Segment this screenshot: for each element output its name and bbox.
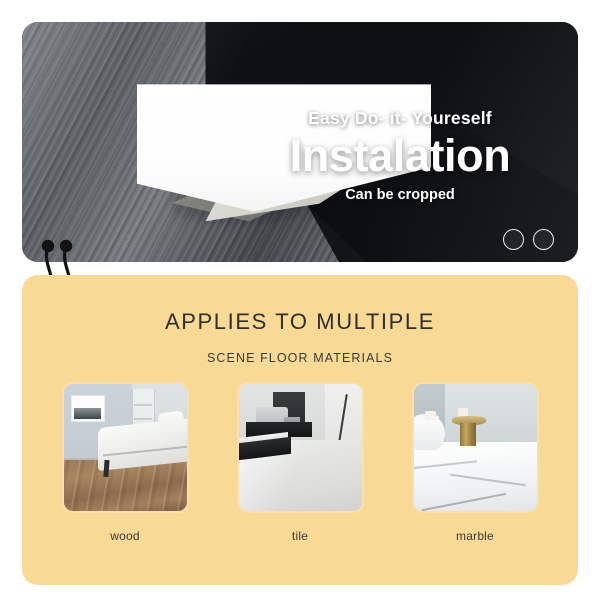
hero-subtitle: Can be cropped	[240, 187, 560, 203]
circle-indicator-2-icon	[533, 229, 554, 250]
material-label-marble: marble	[414, 529, 537, 543]
material-item-tile[interactable]: tile	[239, 384, 362, 543]
wood-shelf-2	[134, 418, 152, 420]
circle-indicator-1-icon	[503, 229, 524, 250]
marble-cup	[425, 411, 436, 420]
hero-indicator-group	[503, 229, 554, 250]
panel-heading: APPLIES TO MULTIPLE	[22, 309, 578, 335]
wood-window	[71, 395, 105, 421]
material-label-tile: tile	[239, 529, 362, 543]
wood-window-view	[74, 408, 101, 420]
materials-panel: APPLIES TO MULTIPLE SCENE FLOOR MATERIAL…	[22, 275, 578, 585]
hero-banner: Easy Do- it- Youreself Instalation Can b…	[22, 22, 578, 262]
marble-table-leg	[460, 423, 476, 446]
marble-bathtub	[414, 417, 446, 450]
hero-title: Instalation	[240, 133, 560, 179]
material-thumbnail-row: wood tile	[22, 384, 578, 543]
hero-kicker: Easy Do- it- Youreself	[240, 108, 560, 129]
product-listing-image: Easy Do- it- Youreself Instalation Can b…	[0, 0, 600, 600]
material-thumbnail-marble[interactable]	[414, 384, 537, 511]
panel-subheading: SCENE FLOOR MATERIALS	[22, 351, 578, 365]
material-thumbnail-tile[interactable]	[239, 384, 362, 511]
material-thumbnail-wood[interactable]	[64, 384, 187, 511]
hero-text-block: Easy Do- it- Youreself Instalation Can b…	[240, 108, 560, 203]
material-item-marble[interactable]: marble	[414, 384, 537, 543]
material-item-wood[interactable]: wood	[64, 384, 187, 543]
material-label-wood: wood	[64, 529, 187, 543]
wood-shelf-1	[134, 404, 152, 406]
